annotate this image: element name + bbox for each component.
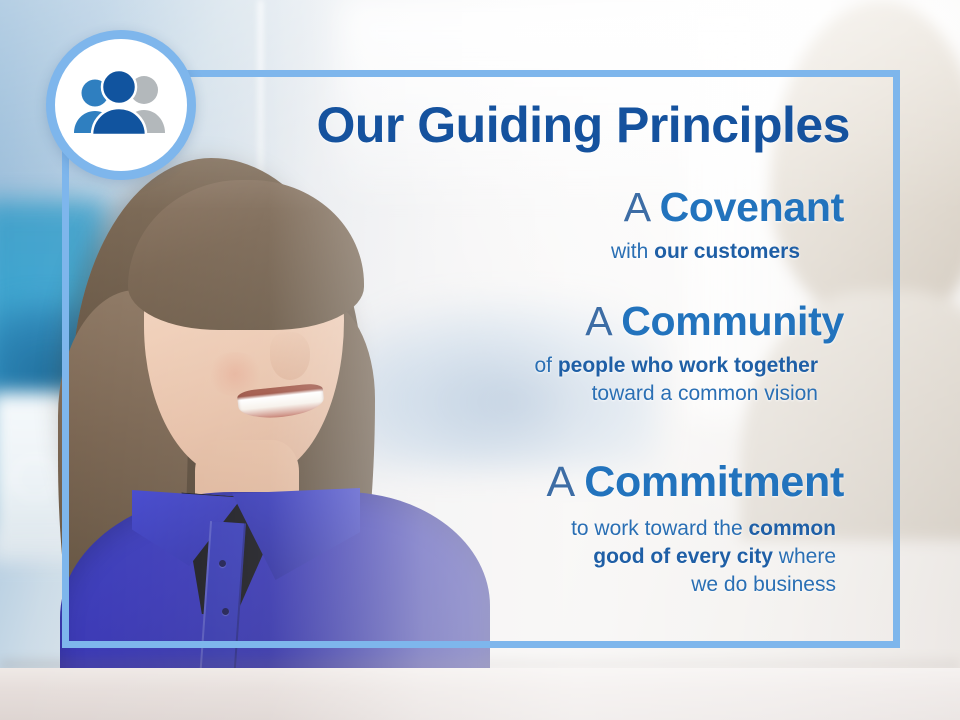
principle-keyword: Commitment bbox=[584, 458, 844, 506]
principle-article: A bbox=[624, 184, 649, 230]
poster-text-content: Our Guiding Principles A Covenant with o… bbox=[0, 0, 960, 720]
principle-heading: A Community bbox=[0, 300, 844, 343]
page-title: Our Guiding Principles bbox=[0, 96, 898, 154]
principle-keyword: Community bbox=[621, 298, 844, 344]
principle-subtext: with our customers bbox=[0, 238, 844, 266]
principle-article: A bbox=[547, 458, 573, 506]
principle-subtext-line: toward a common vision bbox=[0, 380, 818, 408]
principle-subtext: of people who work together toward a com… bbox=[0, 352, 844, 408]
principle-keyword: Covenant bbox=[660, 184, 844, 230]
principle-subtext-line: to work toward the common bbox=[0, 515, 836, 543]
principle-article: A bbox=[585, 298, 610, 344]
principle-heading: A Covenant bbox=[0, 186, 844, 229]
principle-subtext-line: of people who work together bbox=[0, 352, 818, 380]
principle-subtext: to work toward the common good of every … bbox=[0, 515, 844, 599]
principle-block-covenant: A Covenant with our customers bbox=[0, 186, 898, 266]
principle-subtext-line: with our customers bbox=[0, 238, 800, 266]
principle-subtext-line: good of every city where bbox=[0, 543, 836, 571]
principle-subtext-line: we do business bbox=[0, 571, 836, 599]
poster-canvas: FLOW FLOW Our Guidi bbox=[0, 0, 960, 720]
principle-heading: A Commitment bbox=[0, 460, 844, 505]
principle-block-commitment: A Commitment to work toward the common g… bbox=[0, 460, 898, 600]
principle-block-community: A Community of people who work together … bbox=[0, 300, 898, 408]
